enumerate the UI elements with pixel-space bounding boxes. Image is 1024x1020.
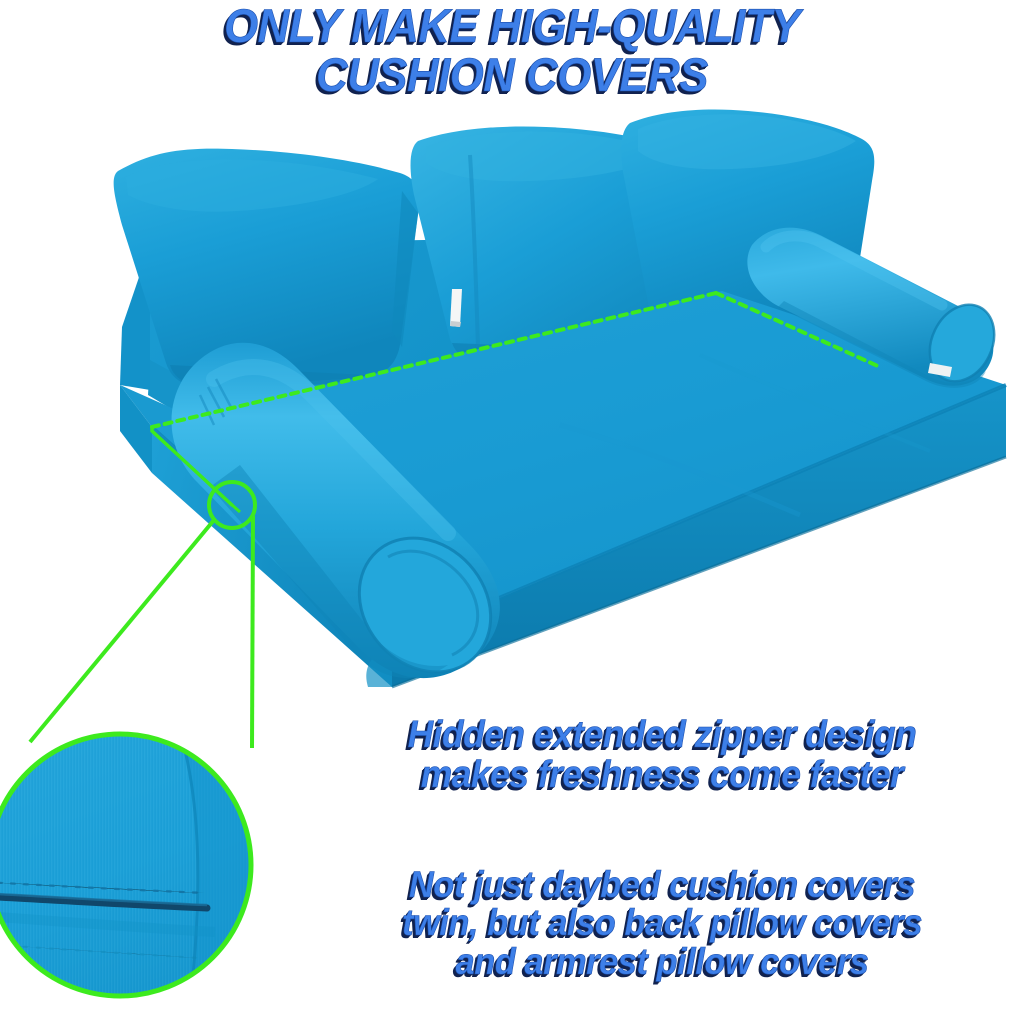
headline-line-1: ONLY MAKE HIGH-QUALITY [36, 2, 988, 51]
headline: ONLY MAKE HIGH-QUALITY CUSHION COVERS [36, 2, 988, 100]
tagline-coverage-line-2: twin, but also back pillow covers [325, 904, 998, 942]
tagline-coverage-line-3: and armrest pillow covers [325, 943, 998, 981]
fabric-tag [450, 289, 462, 327]
tagline-zipper: Hidden extended zipper design makes fres… [325, 716, 998, 795]
headline-line-2: CUSHION COVERS [36, 51, 988, 100]
tagline-zipper-line-2: makes freshness come faster [325, 756, 998, 796]
product-photo [0, 95, 1024, 715]
tagline-zipper-line-1: Hidden extended zipper design [325, 716, 998, 756]
tagline-coverage: Not just daybed cushion covers twin, but… [325, 866, 998, 981]
zipper-detail-magnifier [0, 730, 255, 1000]
product-marketing-image: ONLY MAKE HIGH-QUALITY CUSHION COVERS [0, 0, 1024, 1006]
tagline-coverage-line-1: Not just daybed cushion covers [325, 866, 998, 904]
